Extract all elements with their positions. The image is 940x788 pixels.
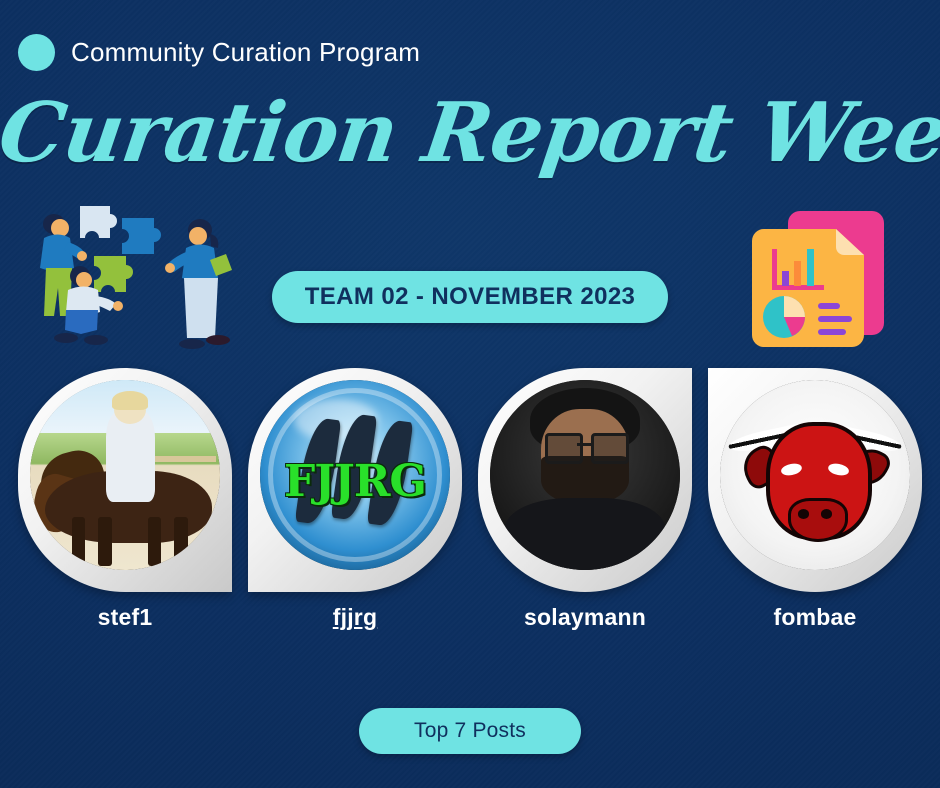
teamwork-puzzle-illustration bbox=[22, 198, 268, 360]
curator-username: fjjrg bbox=[248, 604, 462, 631]
curator-username: solaymann bbox=[478, 604, 692, 631]
man-portrait-photo bbox=[490, 380, 680, 570]
avatar-frame bbox=[478, 368, 692, 592]
red-bull-logo bbox=[720, 380, 910, 570]
curator-card-stef1[interactable]: stef1 bbox=[18, 368, 232, 631]
dot-icon bbox=[18, 34, 55, 71]
header: Community Curation Program bbox=[18, 34, 420, 71]
curator-card-fombae[interactable]: fombae bbox=[708, 368, 922, 631]
avatar-frame bbox=[708, 368, 922, 592]
curator-card-solaymann[interactable]: solaymann bbox=[478, 368, 692, 631]
curator-row: stef1 FJJRG fjjrg bbox=[0, 368, 940, 638]
curator-username: fombae bbox=[708, 604, 922, 631]
report-document-icon bbox=[742, 205, 902, 360]
poster-canvas: Community Curation Program Curation Repo… bbox=[0, 0, 940, 788]
horse-rider-photo bbox=[30, 380, 220, 570]
avatar-frame bbox=[18, 368, 232, 592]
fjjrg-logo: FJJRG bbox=[260, 380, 450, 570]
page-title: Curation Report Week 3 bbox=[0, 92, 940, 174]
avatar-frame: FJJRG bbox=[248, 368, 462, 592]
curator-username: stef1 bbox=[18, 604, 232, 631]
top-posts-badge[interactable]: Top 7 Posts bbox=[359, 708, 581, 754]
program-title: Community Curation Program bbox=[71, 37, 420, 68]
curator-card-fjjrg[interactable]: FJJRG fjjrg bbox=[248, 368, 462, 631]
team-badge[interactable]: TEAM 02 - NOVEMBER 2023 bbox=[272, 271, 668, 323]
